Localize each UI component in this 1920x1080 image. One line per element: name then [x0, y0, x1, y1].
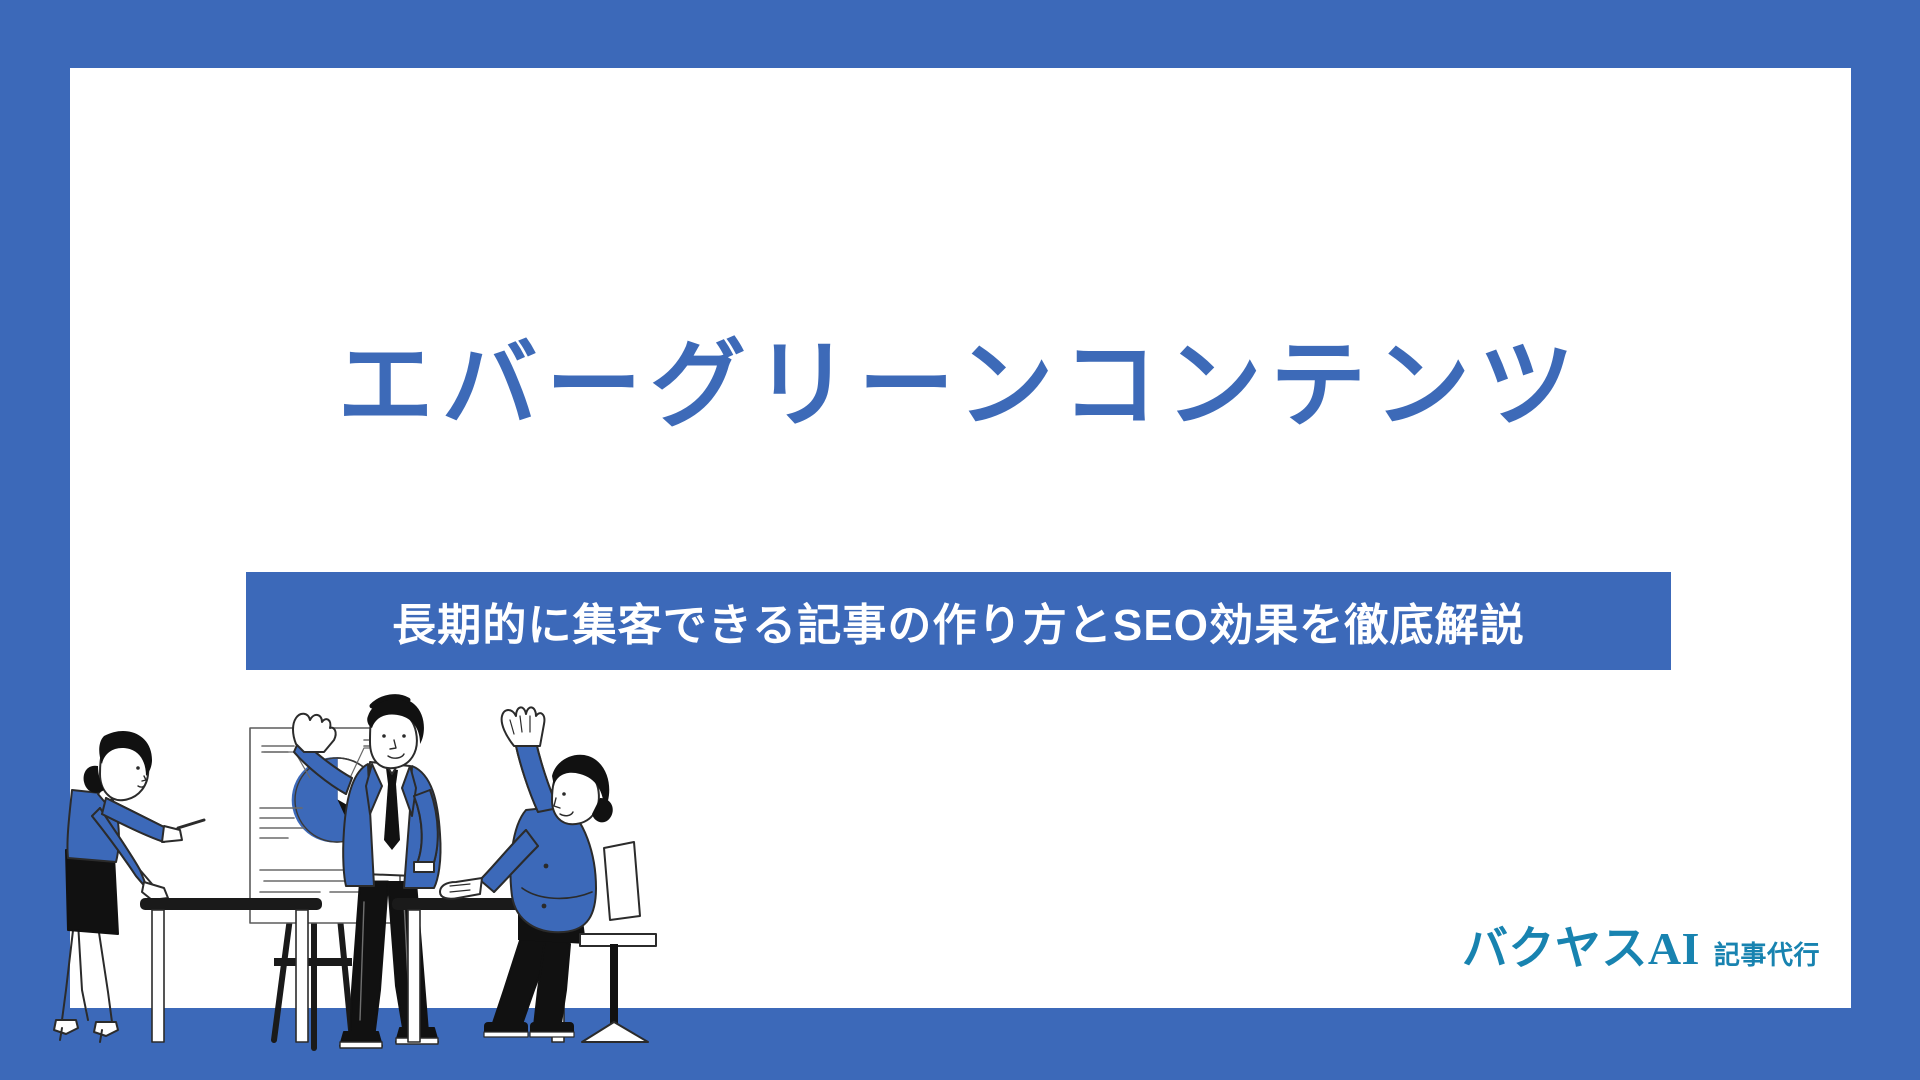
slide-canvas: エバーグリーンコンテンツ 長期的に集客できる記事の作り方とSEO効果を徹底解説: [0, 0, 1920, 1080]
logo-brand-text: バクヤスAI: [1462, 912, 1700, 978]
woman-pointing-at-table: [54, 731, 204, 1042]
person-seated-at-desk: [440, 707, 613, 1037]
pen: [178, 820, 204, 828]
easel-crossbar: [274, 958, 352, 966]
brand-logo: バクヤスAI 記事代行: [1462, 912, 1820, 978]
page-title: エバーグリーンコンテンツ: [0, 338, 1920, 434]
business-team-illustration: [52, 690, 752, 1080]
subtitle-text: 長期的に集客できる記事の作り方とSEO効果を徹底解説: [392, 589, 1525, 653]
subtitle-band: 長期的に集客できる記事の作り方とSEO効果を徹底解説: [246, 572, 1671, 670]
logo-service-text: 記事代行: [1714, 935, 1820, 972]
illustration-svg: [52, 690, 752, 1080]
